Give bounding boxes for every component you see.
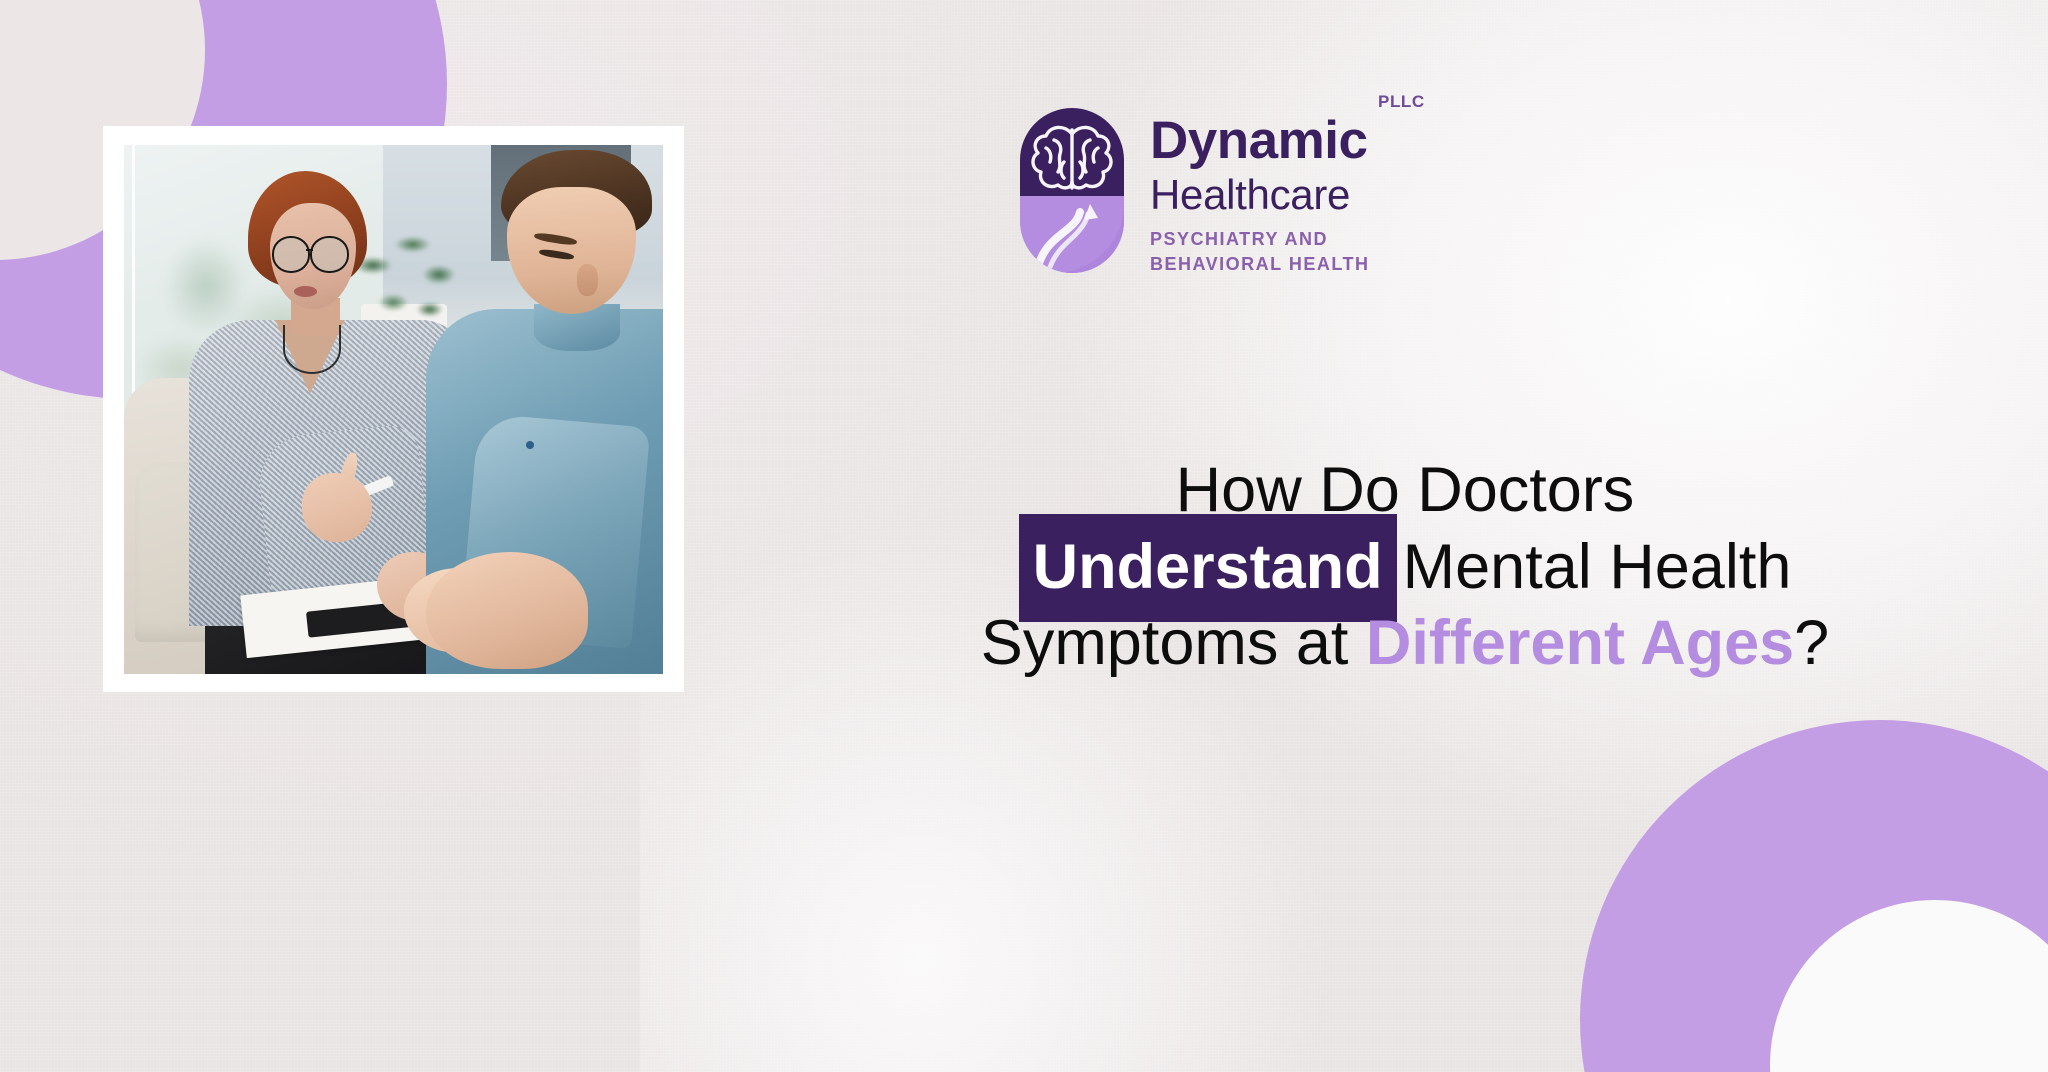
photo-card	[103, 126, 684, 692]
brain-pathway-icon	[1020, 108, 1124, 273]
headline-line-3-plain: Symptoms at	[981, 608, 1366, 678]
headline-highlight-understand: Understand	[1019, 514, 1397, 622]
logo-tagline-line2: BEHAVIORAL HEALTH	[1150, 254, 1370, 274]
photo-woman-glasses-right	[310, 236, 348, 273]
brand-logo: Dynamic PLLC Healthcare PSYCHIATRY AND B…	[1020, 100, 1420, 270]
photo-woman-hand-upper	[302, 473, 372, 542]
photo-man-shirt-button	[526, 441, 534, 449]
logo-wordmark: Dynamic PLLC Healthcare PSYCHIATRY AND B…	[1150, 114, 1370, 277]
logo-name-secondary: Healthcare	[1150, 173, 1370, 217]
headline-line-3: Symptoms at Different Ages?	[900, 608, 1910, 679]
photo-scene	[124, 145, 663, 674]
photo-woman-mouth	[294, 286, 318, 297]
therapist-with-client-photo	[124, 145, 663, 674]
headline-line-2-rest: Mental Health	[1403, 532, 1792, 602]
logo-tagline: PSYCHIATRY AND BEHAVIORAL HEALTH	[1150, 227, 1370, 277]
headline-question-mark: ?	[1794, 608, 1829, 678]
photo-woman-glasses-left	[272, 236, 310, 273]
headline-accent-different-ages: Different Ages	[1366, 608, 1794, 678]
headline: How Do Doctors UnderstandMental Health S…	[900, 455, 1910, 679]
logo-suffix: PLLC	[1378, 92, 1425, 112]
headline-line-2: UnderstandMental Health	[900, 532, 1910, 603]
photo-woman-glasses-bridge	[306, 249, 312, 252]
photo-man-nose	[577, 264, 599, 296]
logo-name-primary: Dynamic	[1150, 114, 1367, 167]
photo-plant-leaves	[350, 219, 463, 335]
photo-man-clasped-hands	[426, 552, 588, 668]
logo-tagline-line1: PSYCHIATRY AND	[1150, 229, 1328, 249]
banner-canvas: Dynamic PLLC Healthcare PSYCHIATRY AND B…	[0, 0, 2048, 1072]
